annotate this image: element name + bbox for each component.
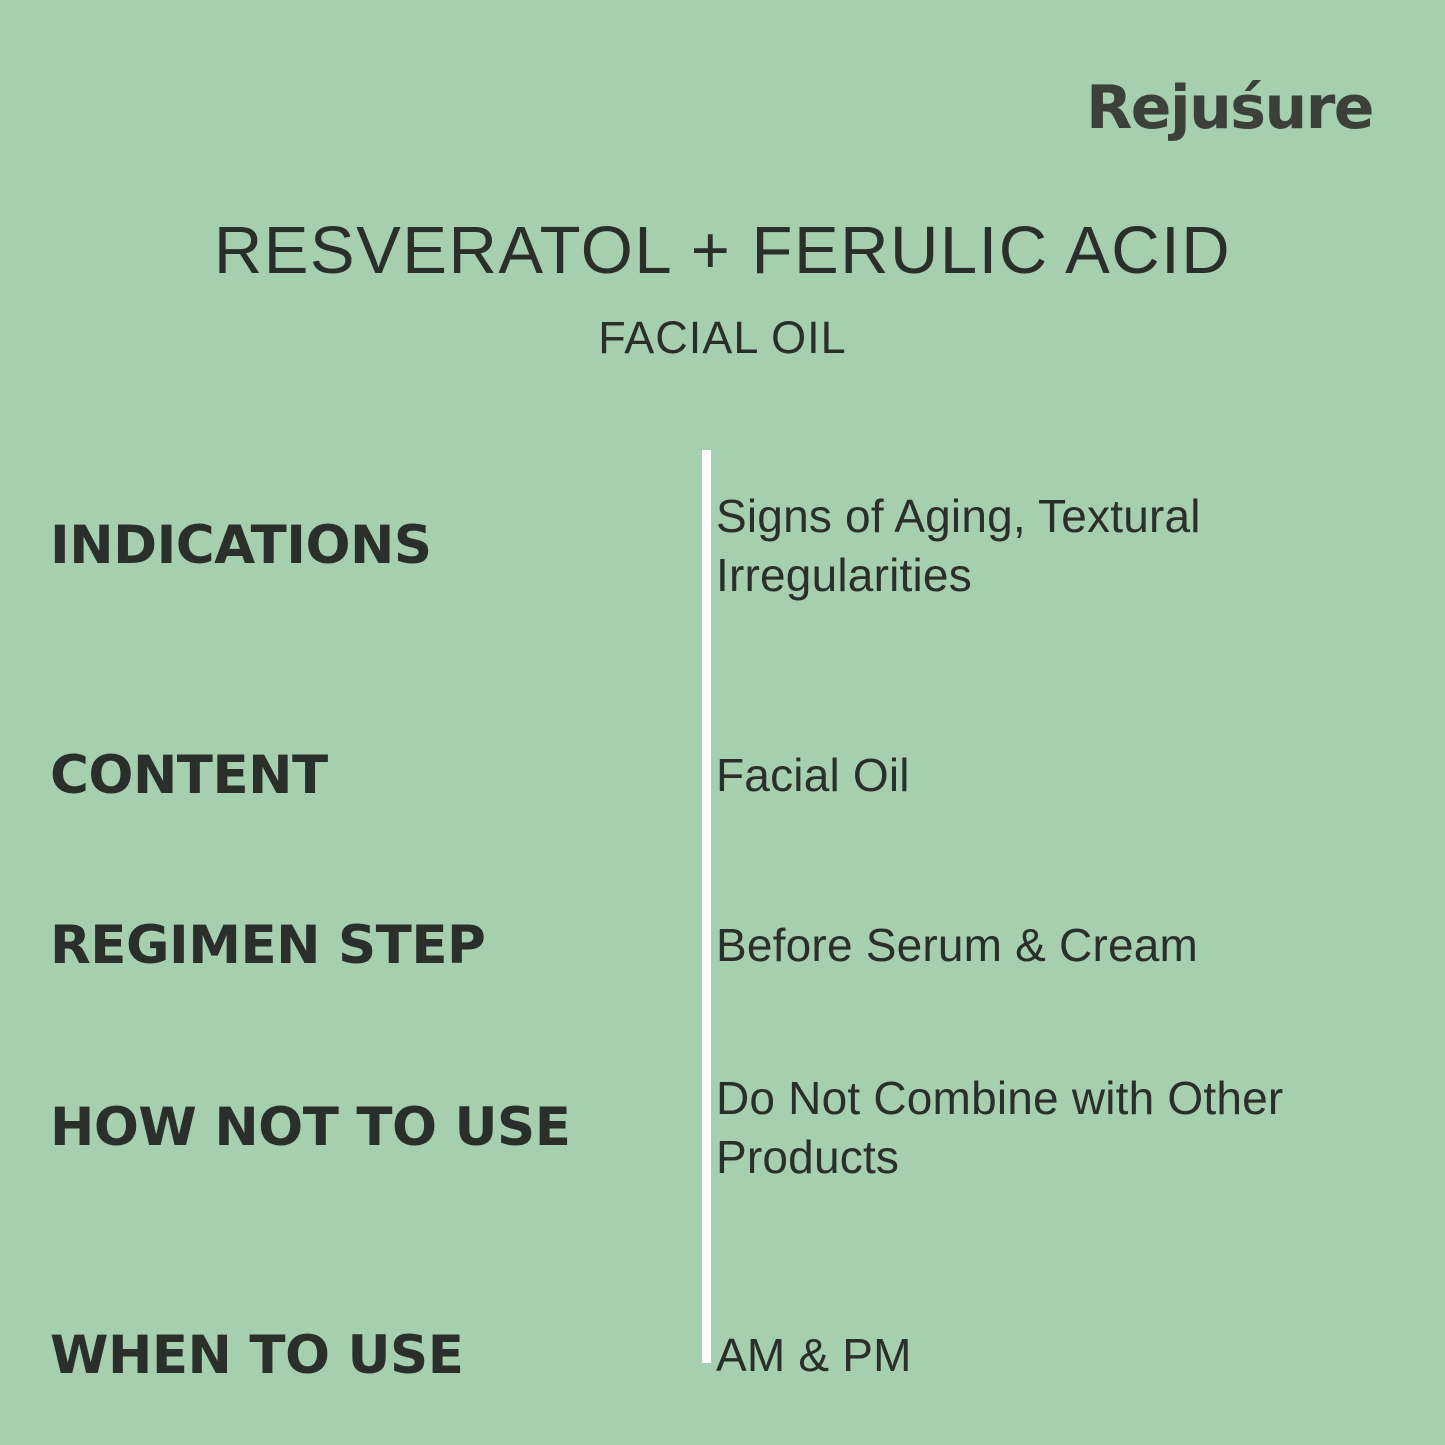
table-row: HOW NOT TO USE Do Not Combine with Other…: [0, 1040, 1445, 1215]
spec-label-how-not-to-use: HOW NOT TO USE: [0, 1100, 652, 1156]
table-row: INDICATIONS Signs of Aging, Textural Irr…: [0, 458, 1445, 633]
table-row: REGIMEN STEP Before Serum & Cream: [0, 858, 1445, 1033]
spec-label-indications: INDICATIONS: [0, 518, 652, 574]
spec-value-indications: Signs of Aging, Textural Irregularities: [716, 487, 1396, 605]
spec-value-regimen-step: Before Serum & Cream: [716, 916, 1396, 975]
table-row: WHEN TO USE AM & PM: [0, 1268, 1445, 1443]
spec-value-when-to-use: AM & PM: [716, 1326, 1396, 1385]
spec-label-regimen-step: REGIMEN STEP: [0, 918, 652, 974]
spec-label-content: CONTENT: [0, 748, 652, 804]
spec-table: INDICATIONS Signs of Aging, Textural Irr…: [0, 450, 1445, 1363]
page-subtitle: FACIAL OIL: [0, 314, 1445, 361]
spec-value-content: Facial Oil: [716, 746, 1396, 805]
page-title: RESVERATOL + FERULIC ACID: [0, 216, 1445, 286]
spec-label-when-to-use: WHEN TO USE: [0, 1328, 652, 1384]
spec-value-how-not-to-use: Do Not Combine with Other Products: [716, 1069, 1396, 1187]
product-header: RESVERATOL + FERULIC ACID FACIAL OIL: [0, 216, 1445, 362]
table-row: CONTENT Facial Oil: [0, 688, 1445, 863]
product-info-card: Rejuśure RESVERATOL + FERULIC ACID FACIA…: [0, 0, 1445, 1445]
brand-logo: Rejuśure: [1086, 78, 1373, 138]
